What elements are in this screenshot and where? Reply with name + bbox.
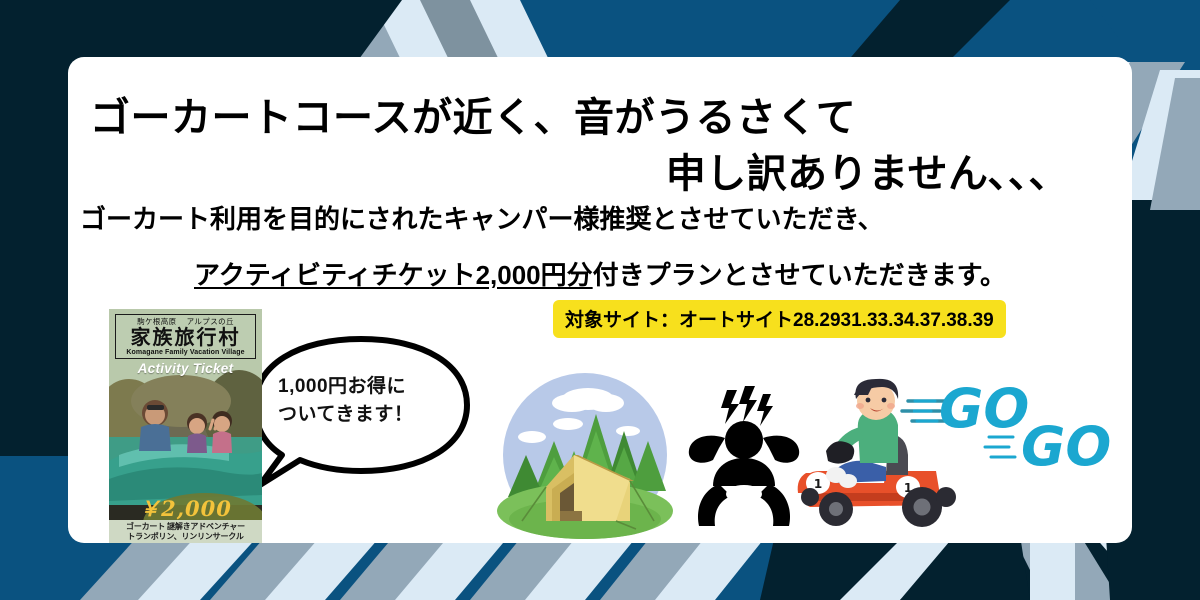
speech-bubble-line-2: ついてきます！ bbox=[278, 401, 448, 429]
body-line-1: ゴーカート利用を目的にされたキャンパー様推奨とさせていただき、 bbox=[80, 199, 884, 236]
ticket-price: ￥2,000 bbox=[139, 493, 232, 523]
body-line-2-underlined: アクティビティチケット2,000円分 bbox=[194, 260, 593, 290]
speech-bubble-line-1: 1,000円お得に bbox=[278, 373, 448, 401]
ticket-services-line-2: トランポリン、リンリンサークル bbox=[112, 532, 259, 542]
go-text-1: GO bbox=[939, 379, 1029, 440]
noise-person-illustration bbox=[685, 382, 803, 530]
go-text-2: GO bbox=[1021, 415, 1111, 478]
ticket-name-en: Komagane Family Vacation Village bbox=[118, 349, 253, 356]
left-leg bbox=[698, 484, 731, 526]
ticket-header: 駒ケ根高原 アルプスの丘 家族旅行村 Komagane Family Vacat… bbox=[109, 309, 262, 376]
target-site-banner: 対象サイト：オートサイト28.2931.33.34.37.38.39 bbox=[553, 300, 1006, 338]
ticket-name-jp: 家族旅行村 bbox=[118, 327, 253, 349]
eye-right bbox=[882, 398, 887, 403]
activity-ticket: 駒ケ根高原 アルプスの丘 家族旅行村 Komagane Family Vacat… bbox=[109, 309, 262, 543]
speech-bubble-text: 1,000円お得に ついてきます！ bbox=[278, 373, 448, 428]
camping-scene bbox=[496, 369, 674, 539]
speech-bubble: 1,000円お得に ついてきます！ bbox=[246, 333, 476, 493]
ticket-services-line-1: ゴーカート 謎解きアドベンチャー bbox=[112, 522, 259, 532]
body-line-2: アクティビティチケット2,000円分付きプランとさせていただきます。 bbox=[194, 255, 1006, 292]
svg-text:1: 1 bbox=[814, 477, 822, 491]
headline-line-2: 申し訳ありません､､､ bbox=[666, 141, 1050, 199]
headline-line-1: ゴーカートコースが近く、音がうるさくて bbox=[90, 85, 856, 143]
torso bbox=[713, 458, 775, 486]
camping-illustration bbox=[496, 369, 674, 539]
wheel-small-front bbox=[801, 488, 819, 506]
content-card: ゴーカートコースが近く、音がうるさくて 申し訳ありません､､､ ゴーカート利用を… bbox=[68, 57, 1132, 543]
ticket-services: ゴーカート 謎解きアドベンチャー トランポリン、リンリンサークル bbox=[109, 520, 262, 543]
ticket-type-label: Activity Ticket bbox=[115, 361, 256, 376]
right-leg bbox=[757, 484, 790, 526]
lightning-bolts bbox=[721, 386, 773, 426]
left-arm bbox=[689, 436, 725, 463]
ticket-title-box: 駒ケ根高原 アルプスの丘 家族旅行村 Komagane Family Vacat… bbox=[115, 314, 256, 359]
eye-left bbox=[866, 398, 871, 403]
body-line-2-rest: 付きプランとさせていただきます。 bbox=[593, 260, 1006, 290]
wheel-small-rear bbox=[936, 487, 956, 507]
steering-wheel bbox=[826, 441, 854, 463]
go-go-graphic: GO GO bbox=[913, 379, 1123, 479]
person-covering-ears bbox=[685, 382, 803, 530]
head bbox=[725, 421, 763, 459]
shoe-right bbox=[839, 474, 857, 488]
go-go-text-illustration: GO GO bbox=[913, 379, 1123, 479]
